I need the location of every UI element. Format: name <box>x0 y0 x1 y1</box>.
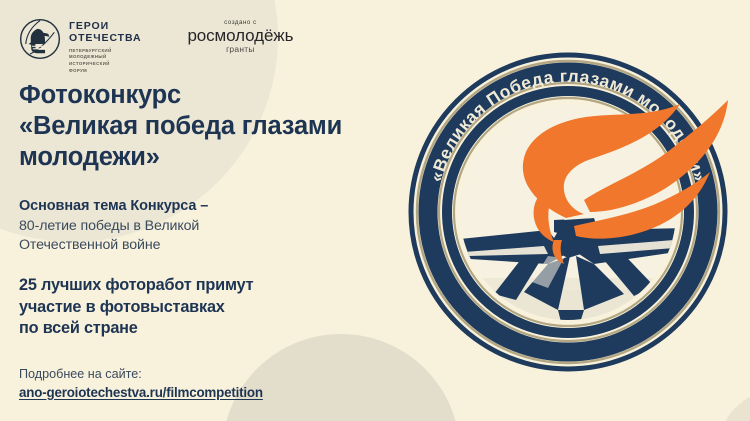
website-link[interactable]: ano-geroiotechestva.ru/filmcompetition <box>19 385 263 400</box>
contest-highlight-line1: 25 лучших фоторабот примут <box>19 275 419 297</box>
contest-highlight-block: 25 лучших фоторабот примут участие в фот… <box>19 275 419 340</box>
rosmolodezh-grants-logo: создано с росмолодёжь гранты <box>187 17 293 54</box>
website-label: Подробнее на сайте: <box>19 365 419 383</box>
partner-logo-prefix: создано с <box>187 19 293 26</box>
heroes-logo-subtitle-line2: МОЛОДЕЖНЫЙ <box>69 54 141 61</box>
page-title-line2: «Великая победа глазами <box>19 111 419 142</box>
partner-logo-suffix: гранты <box>187 44 293 54</box>
heroes-logo-subtitle-line4: ФОРУМ <box>69 68 141 75</box>
partner-logo-name: росмолодёжь <box>187 27 293 44</box>
website-block: Подробнее на сайте: ano-geroiotechestva.… <box>19 365 419 401</box>
heroes-logo-subtitle-line3: ИСТОРИЧЕСКИЙ <box>69 61 141 68</box>
heroes-logo-title-line2: ОТЕЧЕСТВА <box>69 32 141 44</box>
page-title-line1: Фотоконкурс <box>19 80 419 111</box>
contest-theme-block: Основная тема Конкурса – 80-летие победы… <box>19 197 419 255</box>
heroes-logo-text: ГЕРОИ ОТЕЧЕСТВА ПЕТЕРБУРГСКИЙ МОЛОДЕЖНЫЙ… <box>69 17 141 74</box>
soldier-profile-circle-icon <box>19 18 61 60</box>
page-title-line3: молодежи» <box>19 142 419 173</box>
contest-theme-line1: 80-летие победы в Великой <box>19 217 419 236</box>
heroes-logo-title-line1: ГЕРОИ <box>69 20 141 32</box>
contest-theme-line2: Отечественной войне <box>19 236 419 255</box>
heroes-of-fatherland-logo: ГЕРОИ ОТЕЧЕСТВА ПЕТЕРБУРГСКИЙ МОЛОДЕЖНЫЙ… <box>19 17 141 74</box>
heroes-logo-subtitle: ПЕТЕРБУРГСКИЙ МОЛОДЕЖНЫЙ ИСТОРИЧЕСКИЙ ФО… <box>69 48 141 75</box>
poster-canvas: ГЕРОИ ОТЕЧЕСТВА ПЕТЕРБУРГСКИЙ МОЛОДЕЖНЫЙ… <box>0 0 750 421</box>
contest-theme-heading: Основная тема Конкурса – <box>19 197 419 217</box>
heroes-logo-subtitle-line1: ПЕТЕРБУРГСКИЙ <box>69 48 141 55</box>
page-title: Фотоконкурс «Великая победа глазами моло… <box>19 80 419 173</box>
contest-highlight-line2: участие в фотовыставках <box>19 297 419 319</box>
logo-row: ГЕРОИ ОТЕЧЕСТВА ПЕТЕРБУРГСКИЙ МОЛОДЕЖНЫЙ… <box>19 17 293 74</box>
contest-highlight-line3: по всей стране <box>19 318 419 340</box>
eternal-flame-star-emblem: «Великая Победа глазами молодежи» <box>398 42 738 382</box>
background-blob-right-edge <box>718 390 750 421</box>
heroes-logo-title: ГЕРОИ ОТЕЧЕСТВА <box>69 20 141 45</box>
emblem-graphic: «Великая Победа глазами молодежи» <box>398 42 738 382</box>
content-column: Фотоконкурс «Великая победа глазами моло… <box>19 80 419 402</box>
